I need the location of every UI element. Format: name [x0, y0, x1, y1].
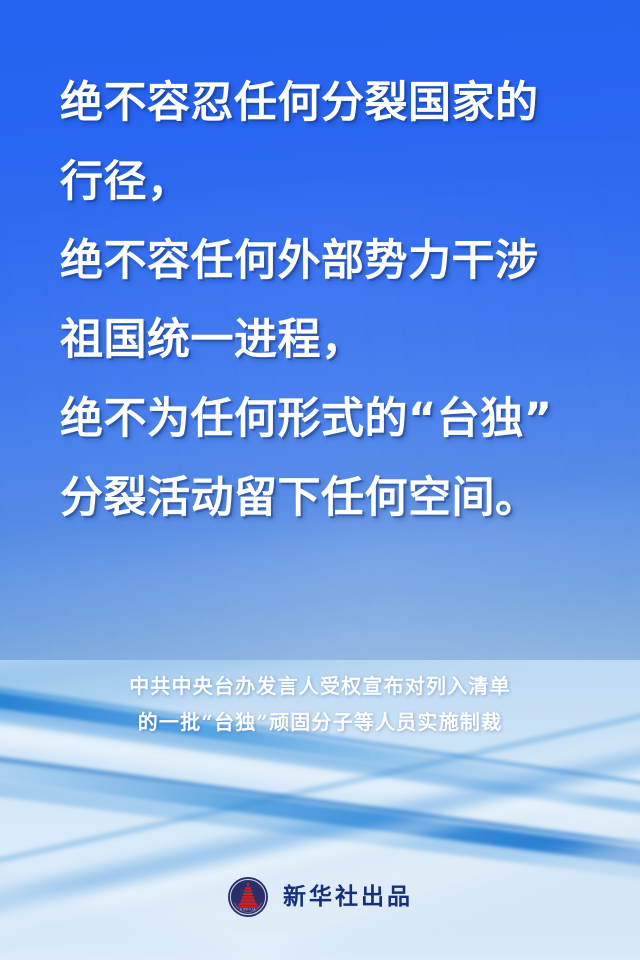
xinhua-emblem-icon: XINHUA: [227, 876, 269, 918]
headline-line-1: 绝不容忍任何分裂国家的: [60, 64, 580, 143]
headline-block: 绝不容忍任何分裂国家的 行径， 绝不容任何外部势力干涉 祖国统一进程， 绝不为任…: [0, 64, 640, 538]
subheadline-block: 中共中央台办发言人受权宣布对列入清单 的一批“台独”顽固分子等人员实施制裁: [0, 668, 640, 740]
brand-footer: XINHUA 新华社出品: [0, 876, 640, 918]
brand-label: 新华社出品: [283, 886, 413, 909]
headline-line-6: 分裂活动留下任何空间。: [60, 459, 580, 538]
subheadline-line-2: 的一批“台独”顽固分子等人员实施制裁: [0, 704, 640, 740]
headline-line-4: 祖国统一进程，: [60, 301, 580, 380]
svg-text:XINHUA: XINHUA: [240, 908, 256, 912]
headline-line-2: 行径，: [60, 143, 580, 222]
headline-line-5: 绝不为任何形式的“台独”: [60, 380, 580, 459]
headline-line-3: 绝不容任何外部势力干涉: [60, 222, 580, 301]
subheadline-line-1: 中共中央台办发言人受权宣布对列入清单: [0, 668, 640, 704]
poster-canvas: 绝不容忍任何分裂国家的 行径， 绝不容任何外部势力干涉 祖国统一进程， 绝不为任…: [0, 0, 640, 960]
